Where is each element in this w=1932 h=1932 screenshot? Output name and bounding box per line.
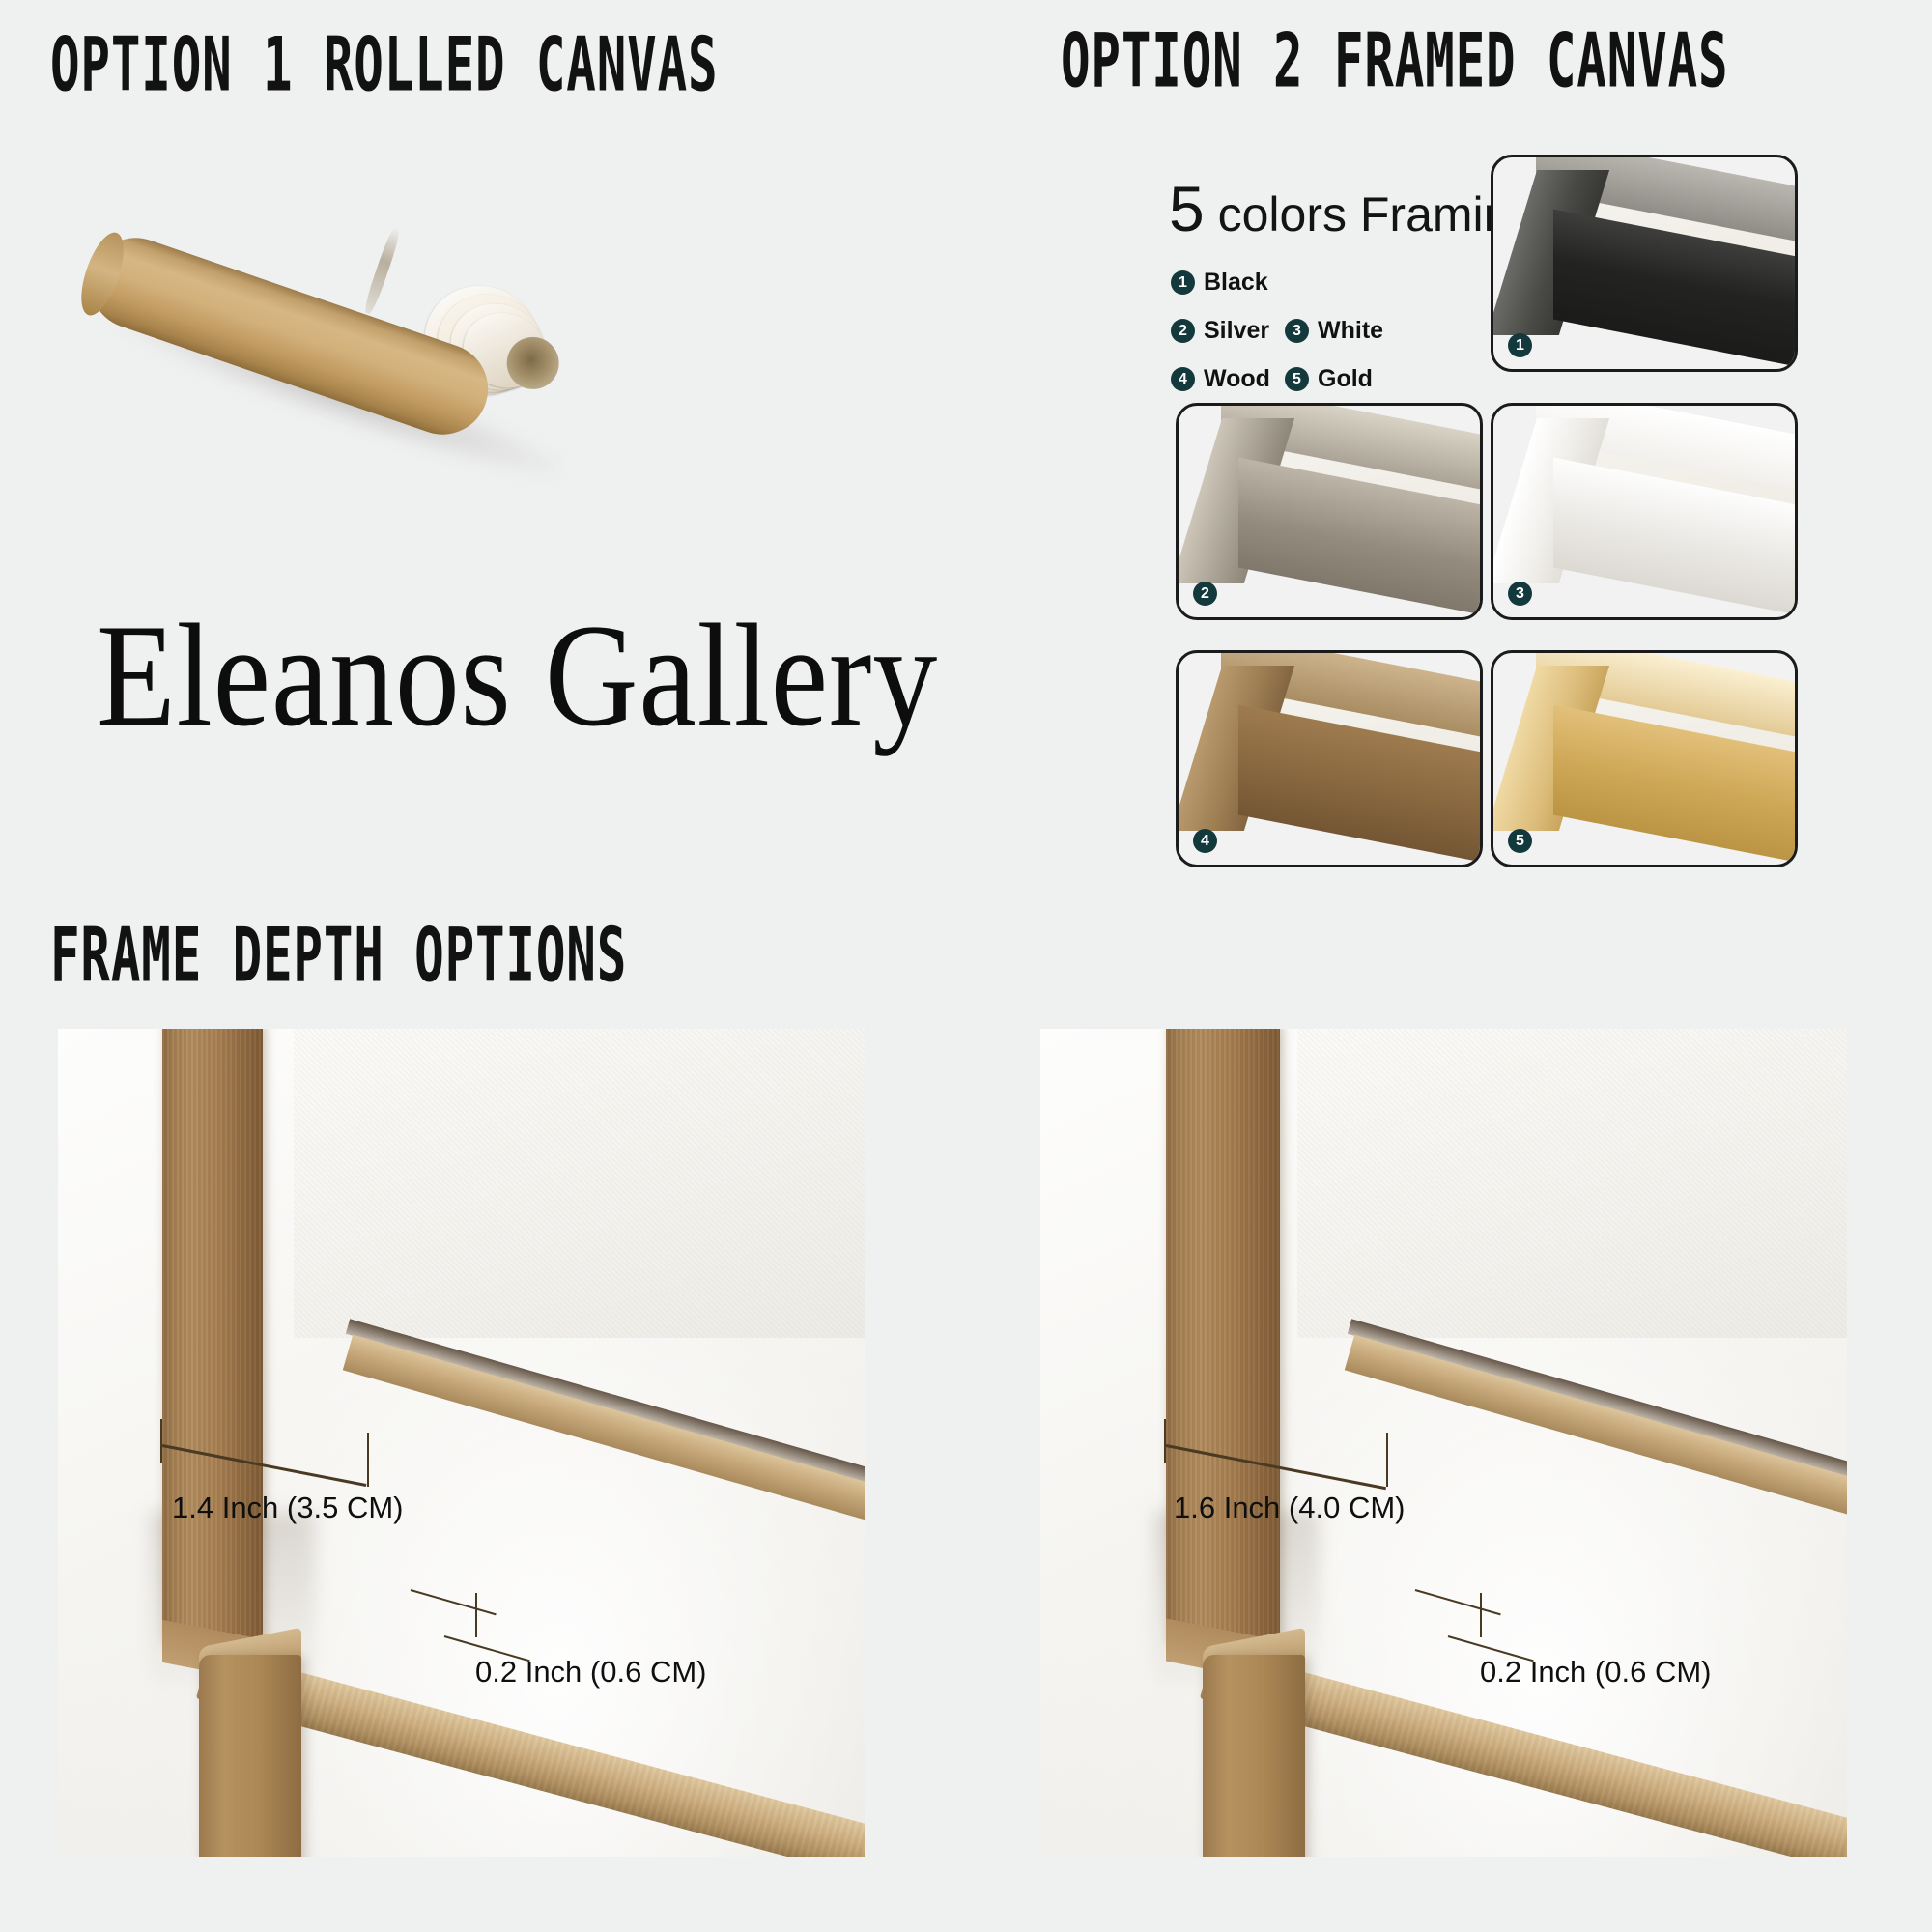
legend-row: 1 Black [1171,269,1412,297]
canvas-face [294,1029,865,1338]
frame-swatch-silver[interactable]: 2 [1176,403,1483,620]
legend-item-gold: 5 Gold [1285,365,1399,393]
frame-depth-photo-right: 1.6 Inch (4.0 CM) 0.2 Inch (0.6 CM) [1040,1029,1847,1857]
framing-colors-title: 5 colors Framing [1169,172,1537,245]
mailing-tube-seam [362,226,403,316]
depth-dimension-label: 1.6 Inch (4.0 CM) [1174,1491,1405,1525]
color-legend: 1 Black 2 Silver 3 White 4 Wood 5 Gold [1171,269,1412,413]
thickness-dimension-label: 0.2 Inch (0.6 CM) [1480,1655,1711,1690]
frame-corner-illustration [1493,406,1795,617]
frame-swatch-wood[interactable]: 4 [1176,650,1483,867]
rolled-canvas-figure [87,169,628,449]
number-badge-4: 4 [1171,367,1195,391]
swatch-badge-3: 3 [1508,582,1532,606]
dim-tick-right [1386,1433,1388,1487]
legend-item-black: 1 Black [1171,269,1285,297]
thickness-dimension-label: 0.2 Inch (0.6 CM) [475,1655,706,1690]
legend-item-wood: 4 Wood [1171,365,1285,393]
number-badge-1: 1 [1171,270,1195,295]
swatch-badge-4: 4 [1193,829,1217,853]
frame-swatch-black[interactable]: 1 [1491,155,1798,372]
legend-row: 4 Wood 5 Gold [1171,365,1412,393]
legend-item-silver: 2 Silver [1171,317,1285,345]
number-badge-2: 2 [1171,319,1195,343]
option-2-heading: OPTION 2 FRAMED CANVAS [1061,16,1728,104]
frame-corner-illustration [1493,653,1795,865]
dim-tick-right [367,1433,369,1487]
frame-corner-illustration [1179,653,1480,865]
frame-corner-block [1203,1655,1305,1857]
frame-vertical-post [1166,1029,1280,1643]
option-1-heading: OPTION 1 ROLLED CANVAS [50,20,718,108]
swatch-badge-1: 1 [1508,333,1532,357]
thickness-tick [1480,1593,1482,1637]
canvas-face [1297,1029,1847,1338]
frame-depth-photo-left: 1.4 Inch (3.5 CM) 0.2 Inch (0.6 CM) [58,1029,865,1857]
frame-corner-block [199,1655,301,1857]
frame-swatch-white[interactable]: 3 [1491,403,1798,620]
legend-label-silver: Silver [1204,317,1269,345]
dim-tick-left [1164,1419,1166,1463]
framing-color-count: 5 [1169,173,1205,244]
depth-dimension-label: 1.4 Inch (3.5 CM) [172,1491,403,1525]
legend-label-gold: Gold [1318,365,1373,393]
number-badge-3: 3 [1285,319,1309,343]
legend-row: 2 Silver 3 White [1171,317,1412,345]
frame-vertical-post [162,1029,263,1643]
frame-depth-heading: FRAME DEPTH OPTIONS [50,911,627,999]
dim-tick-left [160,1419,162,1463]
frame-corner-illustration [1179,406,1480,617]
number-badge-5: 5 [1285,367,1309,391]
frame-swatch-gold[interactable]: 5 [1491,650,1798,867]
thickness-tick [475,1593,477,1637]
framing-title-text: colors Framing [1205,187,1538,241]
legend-label-white: White [1318,317,1383,345]
frame-corner-illustration [1493,157,1795,369]
legend-label-black: Black [1204,269,1268,297]
legend-label-wood: Wood [1204,365,1270,393]
brand-wordmark: Eleanos Gallery [97,591,938,759]
swatch-badge-2: 2 [1193,582,1217,606]
legend-item-white: 3 White [1285,317,1399,345]
swatch-badge-5: 5 [1508,829,1532,853]
